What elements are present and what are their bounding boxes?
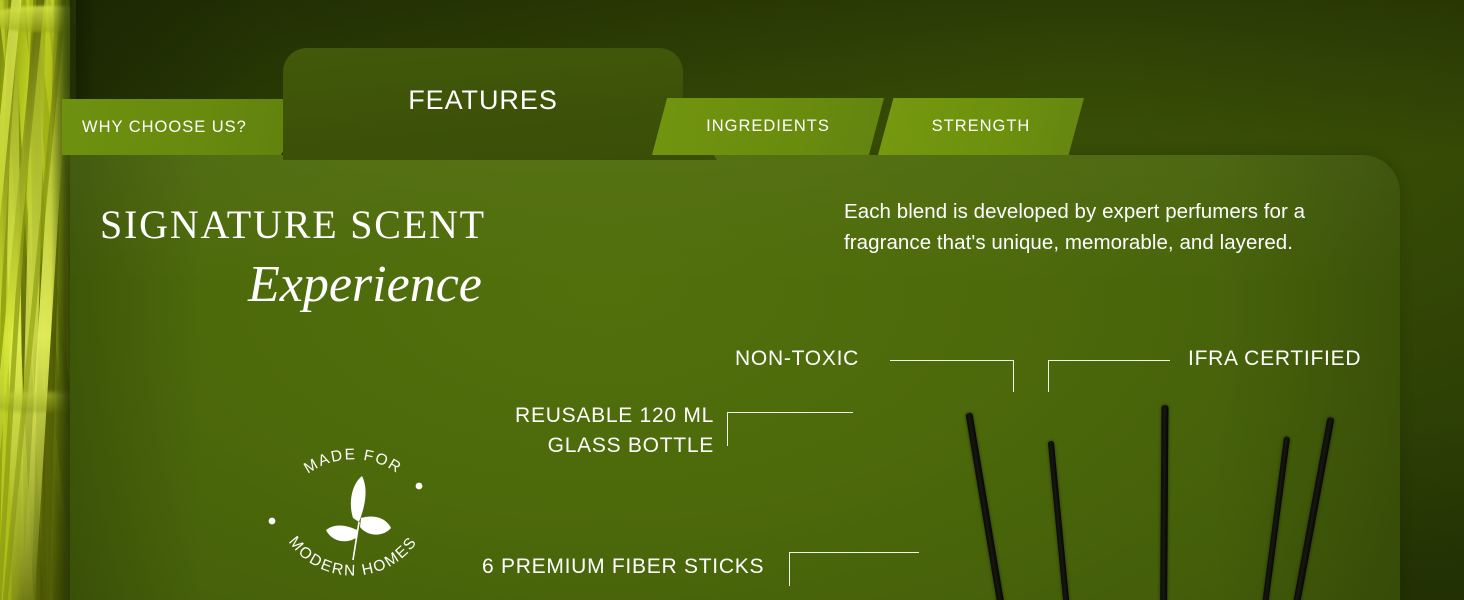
black-reed-diffuser-sticks — [960, 380, 1380, 600]
callout-non-toxic: NON-TOXIC — [735, 347, 859, 371]
reed-stick-5 — [1290, 417, 1334, 600]
badge-top-text: MADE FOR — [301, 446, 405, 477]
callout-glass-bottle: REUSABLE 120 ML GLASS BOTTLE — [505, 401, 714, 461]
callout-glass-bottle-line2: GLASS BOTTLE — [505, 431, 714, 461]
tab-strength[interactable]: STRENGTH — [878, 98, 1084, 155]
tab-features[interactable]: FEATURES — [283, 48, 683, 160]
callout-fiber-sticks: 6 PREMIUM FIBER STICKS — [482, 555, 764, 579]
tab-why-choose-us[interactable]: WHY CHOOSE US? — [62, 99, 315, 155]
leaf-sprig-icon — [326, 476, 391, 560]
page-title: SIGNATURE SCENT Experience — [100, 205, 486, 311]
callout-glass-bottle-line1: REUSABLE 120 ML — [505, 401, 714, 431]
leader-line-bottle-horizontal — [727, 412, 853, 413]
leader-line-sticks-horizontal — [789, 552, 919, 553]
reed-stick-1 — [965, 412, 1007, 600]
leader-line-sticks-vertical — [789, 552, 790, 586]
tab-bar: WHY CHOOSE US? FEATURES INGREDIENTS STRE… — [0, 0, 1464, 160]
tab-ingredients-label: INGREDIENTS — [706, 117, 830, 136]
leader-line-bottle-vertical — [727, 412, 728, 446]
leader-line-non-toxic-horizontal — [890, 360, 1014, 361]
tab-features-label: FEATURES — [408, 85, 558, 116]
badge-dot-left — [269, 518, 276, 525]
lede-paragraph: Each blend is developed by expert perfum… — [844, 196, 1384, 258]
made-for-modern-homes-badge: MADE FOR MODERN HOMES — [258, 418, 448, 600]
tab-ingredients[interactable]: INGREDIENTS — [652, 98, 884, 155]
badge-dot-right — [416, 483, 423, 490]
callout-ifra-certified: IFRA CERTIFIED — [1188, 347, 1361, 371]
leader-line-ifra-horizontal — [1048, 360, 1170, 361]
page-title-line2: Experience — [248, 259, 486, 311]
tab-why-choose-us-label: WHY CHOOSE US? — [82, 118, 247, 137]
reed-stick-2 — [1048, 441, 1071, 600]
infographic-stage: WHY CHOOSE US? FEATURES INGREDIENTS STRE… — [0, 0, 1464, 600]
reed-stick-4 — [1260, 436, 1290, 600]
reed-stick-3 — [1160, 405, 1169, 600]
tab-strength-label: STRENGTH — [932, 117, 1031, 136]
page-title-line1: SIGNATURE SCENT — [100, 205, 486, 245]
